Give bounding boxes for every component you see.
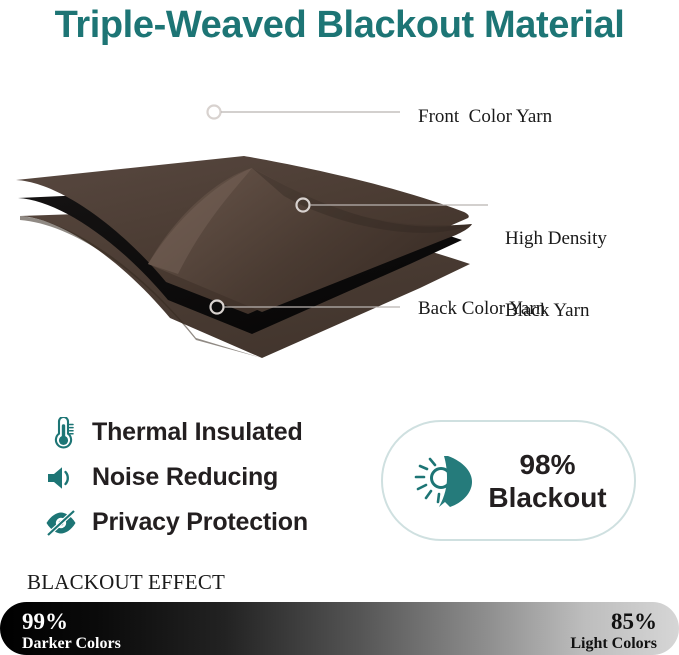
blackout-badge-text: 98% Blackout — [488, 448, 606, 514]
blackout-percent: 98% — [519, 449, 575, 480]
infographic-page: Triple-Weaved Blackout Material — [0, 0, 679, 655]
blackout-effect-heading: BLACKOUT EFFECT — [27, 570, 225, 595]
effect-darker-percent: 99% — [22, 610, 121, 634]
callout-label-high-density-black-yarn: High Density Black Yarn — [505, 179, 607, 371]
feature-label: Privacy Protection — [92, 508, 308, 537]
sun-blocked-icon — [410, 448, 482, 514]
feature-label: Noise Reducing — [92, 463, 278, 492]
feature-item-privacy-protection: Privacy Protection — [44, 500, 364, 545]
feature-label: Thermal Insulated — [92, 418, 303, 447]
effect-light-percent: 85% — [570, 610, 657, 634]
blackout-label: Blackout — [488, 482, 606, 513]
callout-leader-front — [208, 106, 401, 119]
speaker-sound-icon — [44, 461, 78, 495]
feature-item-thermal-insulated: Thermal Insulated — [44, 410, 364, 455]
effect-light-colors: 85% Light Colors — [570, 610, 657, 653]
blackout-badge: 98% Blackout — [381, 420, 636, 541]
callout-label-front-color-yarn: Front Color Yarn — [418, 105, 552, 129]
effect-light-caption: Light Colors — [570, 634, 657, 653]
feature-item-noise-reducing: Noise Reducing — [44, 455, 364, 500]
effect-darker-caption: Darker Colors — [22, 634, 121, 653]
callout-label-line-1: High Density — [505, 227, 607, 251]
blackout-effect-gradient-bar: 99% Darker Colors 85% Light Colors — [0, 602, 679, 655]
feature-list: Thermal Insulated Noise Reducing — [44, 410, 364, 545]
callout-label-back-color-yarn: Back Color Yarn — [418, 297, 545, 321]
page-title: Triple-Weaved Blackout Material — [0, 0, 679, 54]
effect-darker-colors: 99% Darker Colors — [22, 610, 121, 653]
thermometer-icon — [44, 416, 78, 450]
eye-slash-icon — [44, 506, 78, 540]
